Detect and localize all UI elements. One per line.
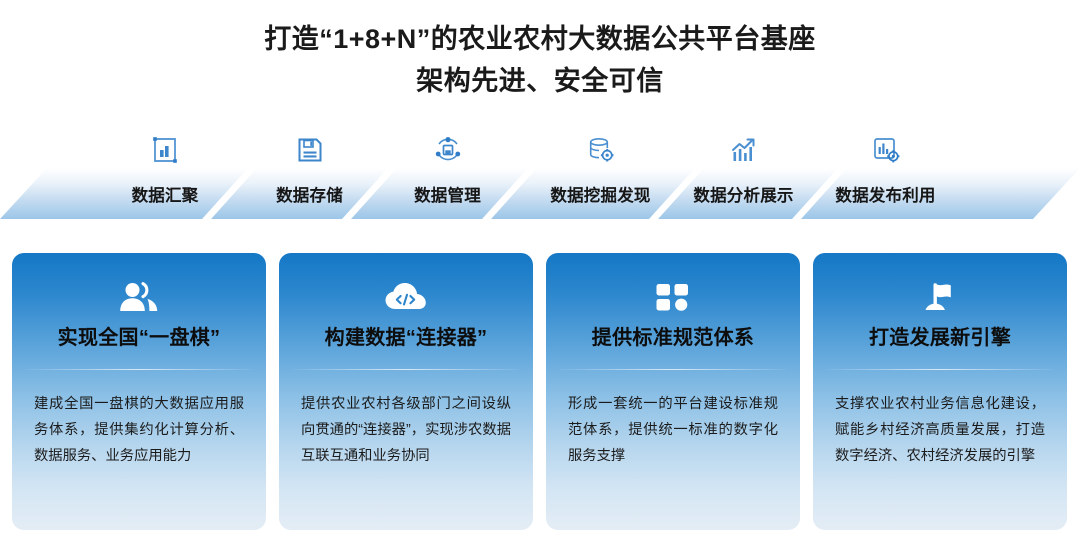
ribbon-label: 数据存储 [276,182,343,206]
card-divider [293,369,519,370]
ribbon-item-data-release[interactable]: 数据发布利用 [808,168,963,219]
feature-card-3[interactable]: 提供标准规范体系 形成一套统一的平台建设标准规范体系，提供统一标准的数字化服务支… [546,253,800,530]
card-title: 实现全国“一盘棋” [12,321,266,350]
card-body: 支撑农业农村业务信息化建设，赋能乡村经济高质量发展，打造数字经济、农村经济发展的… [835,391,1045,469]
feature-card-1[interactable]: 实现全国“一盘棋” 建成全国一盘棋的大数据应用服务体系，提供集约化计算分析、数据… [12,253,266,530]
card-body: 提供农业农村各级部门之间设纵向贯通的“连接器”，实现涉农数据互联互通和业务协同 [301,391,511,469]
card-title: 构建数据“连接器” [279,321,533,350]
grid-blocks-icon [546,280,800,314]
dashboard-gear-icon [871,135,901,165]
ribbon-label: 数据挖掘发现 [550,182,650,206]
ribbon-item-data-aggregation[interactable]: 数据汇聚 [100,168,230,219]
feature-card-4[interactable]: 打造发展新引擎 支撑农业农村业务信息化建设，赋能乡村经济高质量发展，打造数字经济… [813,253,1067,530]
card-title: 提供标准规范体系 [546,321,800,350]
card-divider [560,369,786,370]
ribbon-item-data-mining[interactable]: 数据挖掘发现 [523,168,678,219]
ribbon-item-data-management[interactable]: 数据管理 [385,168,510,219]
slide-root: 打造“1+8+N”的农业农村大数据公共平台基座 架构先进、安全可信 数据汇聚 [0,0,1080,558]
ribbon-label: 数据管理 [414,182,481,206]
card-body: 形成一套统一的平台建设标准规范体系，提供统一标准的数字化服务支撑 [568,391,778,469]
ribbon-item-data-storage[interactable]: 数据存储 [247,168,372,219]
title-line-2: 架构先进、安全可信 [0,60,1080,102]
ribbon-label: 数据分析展示 [693,182,793,206]
floppy-disk-icon [295,135,325,165]
feature-card-row: 实现全国“一盘棋” 建成全国一盘棋的大数据应用服务体系，提供集约化计算分析、数据… [12,253,1068,530]
trend-chart-icon [729,135,759,165]
database-gear-icon [586,135,616,165]
network-node-icon [433,135,463,165]
ribbon-item-data-analysis[interactable]: 数据分析展示 [666,168,821,219]
card-title: 打造发展新引擎 [813,321,1067,350]
card-divider [26,369,252,370]
card-divider [827,369,1053,370]
page-title: 打造“1+8+N”的农业农村大数据公共平台基座 架构先进、安全可信 [0,18,1080,102]
cloud-code-icon [279,280,533,314]
feature-card-2[interactable]: 构建数据“连接器” 提供农业农村各级部门之间设纵向贯通的“连接器”，实现涉农数据… [279,253,533,530]
bar-chart-frame-icon [150,135,180,165]
flag-icon [813,280,1067,314]
title-line-1: 打造“1+8+N”的农业农村大数据公共平台基座 [0,18,1080,60]
card-body: 建成全国一盘棋的大数据应用服务体系，提供集约化计算分析、数据服务、业务应用能力 [34,391,244,469]
ribbon-label: 数据汇聚 [132,182,199,206]
people-icon [12,280,266,314]
ribbon-label: 数据发布利用 [835,182,935,206]
process-ribbon: 数据汇聚 数据存储 [0,168,1080,219]
